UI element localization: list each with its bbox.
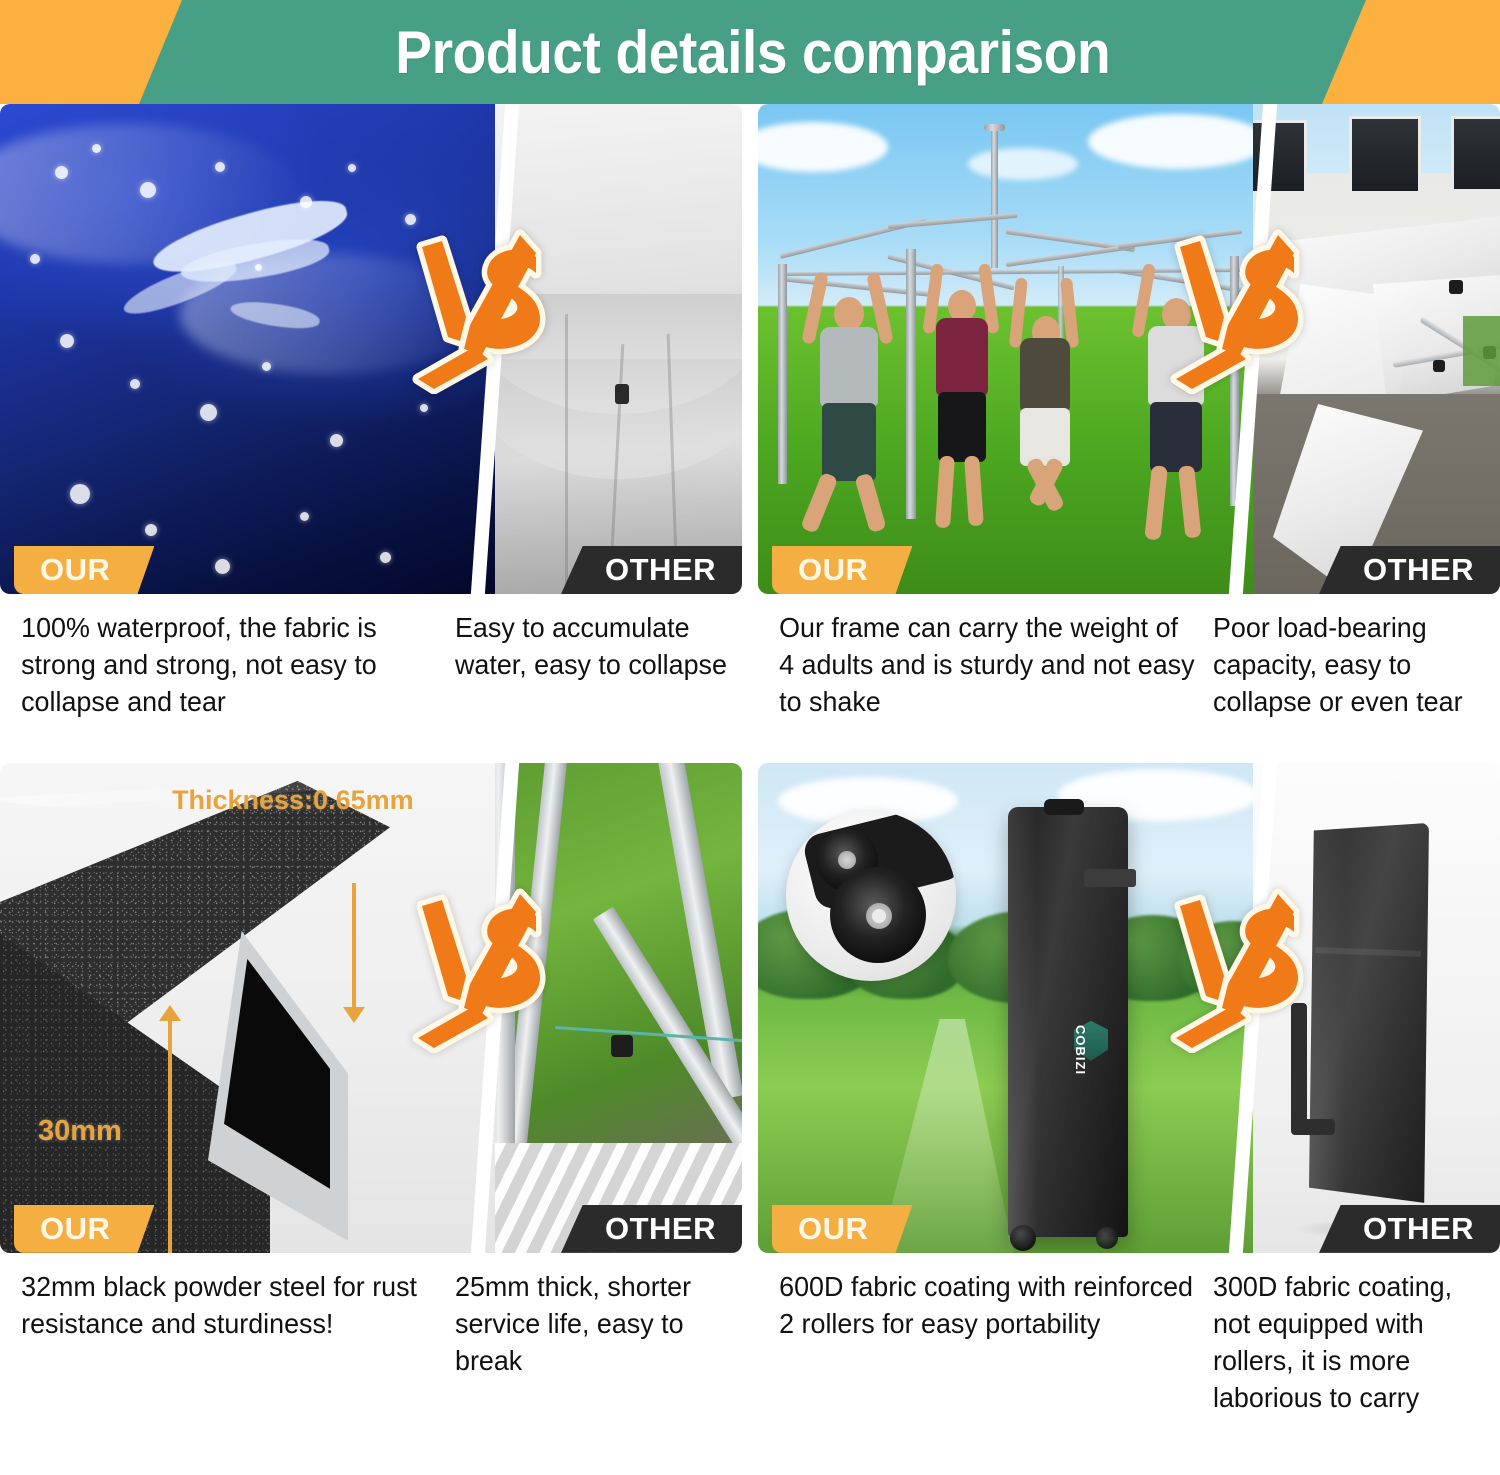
blue-fabric-photo xyxy=(0,104,495,594)
thickness-annotation: Thickness:0.65mm xyxy=(172,785,414,816)
panel-carry-bag-images: COBIZI OUR xyxy=(758,763,1500,1253)
panel-waterproof: OUR OTHER xyxy=(0,104,742,721)
our-badge: OUR xyxy=(14,546,154,594)
panel-carry-bag-captions: 600D fabric coating with reinforced 2 ro… xyxy=(758,1253,1500,1417)
other-badge: OTHER xyxy=(561,546,742,594)
comparison-grid: OUR OTHER xyxy=(0,104,1500,1417)
panel-steel-tube: Thickness:0.65mm 30mm OUR xyxy=(0,763,742,1417)
other-badge: OTHER xyxy=(1319,1205,1500,1253)
our-image-steel-tube: Thickness:0.65mm 30mm OUR xyxy=(0,763,495,1253)
our-badge: OUR xyxy=(14,1205,154,1253)
bag-brand-logo: COBIZI xyxy=(1073,1025,1088,1075)
our-image-carry-bag: COBIZI OUR xyxy=(758,763,1253,1253)
plain-black-bag-photo xyxy=(1253,763,1500,1253)
our-badge: OUR xyxy=(772,1205,912,1253)
steel-tube-photo: Thickness:0.65mm 30mm xyxy=(0,763,495,1253)
other-badge: OTHER xyxy=(1319,546,1500,594)
width-annotation: 30mm xyxy=(38,1115,122,1148)
panel-steel-tube-captions: 32mm black powder steel for rust resista… xyxy=(0,1253,742,1380)
our-caption: Our frame can carry the weight of 4 adul… xyxy=(758,610,1195,721)
header-banner: Product details comparison xyxy=(0,0,1500,104)
panel-load-bearing: OUR xyxy=(758,104,1500,721)
other-image-load-bearing: OTHER xyxy=(1253,104,1500,594)
our-badge: OUR xyxy=(772,546,912,594)
panel-load-bearing-images: OUR xyxy=(758,104,1500,594)
other-caption: Easy to accumulate water, easy to collap… xyxy=(455,610,731,721)
page-title: Product details comparison xyxy=(63,0,1443,104)
product-comparison-infographic: Product details comparison xyxy=(0,0,1500,1475)
row-spacer xyxy=(0,721,1500,763)
other-badge: OTHER xyxy=(561,1205,742,1253)
thin-frame-bars-photo xyxy=(495,763,742,1253)
our-image-load-bearing: OUR xyxy=(758,104,1253,594)
panel-waterproof-captions: 100% waterproof, the fabric is strong an… xyxy=(0,594,742,721)
our-caption: 32mm black powder steel for rust resista… xyxy=(0,1269,437,1380)
panel-load-bearing-captions: Our frame can carry the weight of 4 adul… xyxy=(758,594,1500,721)
other-image-steel-tube: OTHER xyxy=(495,763,742,1253)
four-adults-frame-photo xyxy=(758,104,1253,594)
comparison-row-2: Thickness:0.65mm 30mm OUR xyxy=(0,763,1500,1417)
other-image-carry-bag: OTHER xyxy=(1253,763,1500,1253)
comparison-row-1: OUR OTHER xyxy=(0,104,1500,721)
other-caption: Poor load-bearing capacity, easy to coll… xyxy=(1213,610,1489,721)
panel-steel-tube-images: Thickness:0.65mm 30mm OUR xyxy=(0,763,742,1253)
our-caption: 100% waterproof, the fabric is strong an… xyxy=(0,610,437,721)
other-caption: 25mm thick, shorter service life, easy t… xyxy=(455,1269,731,1380)
our-image-waterproof: OUR xyxy=(0,104,495,594)
collapsed-canopy-photo xyxy=(1253,104,1500,594)
our-caption: 600D fabric coating with reinforced 2 ro… xyxy=(758,1269,1195,1417)
carry-bag-lawn-photo: COBIZI xyxy=(758,763,1253,1253)
panel-waterproof-images: OUR OTHER xyxy=(0,104,742,594)
other-caption: 300D fabric coating, not equipped with r… xyxy=(1213,1269,1489,1417)
other-image-waterproof: OTHER xyxy=(495,104,742,594)
panel-carry-bag: COBIZI OUR xyxy=(758,763,1500,1417)
grey-canopy-photo xyxy=(495,104,742,594)
